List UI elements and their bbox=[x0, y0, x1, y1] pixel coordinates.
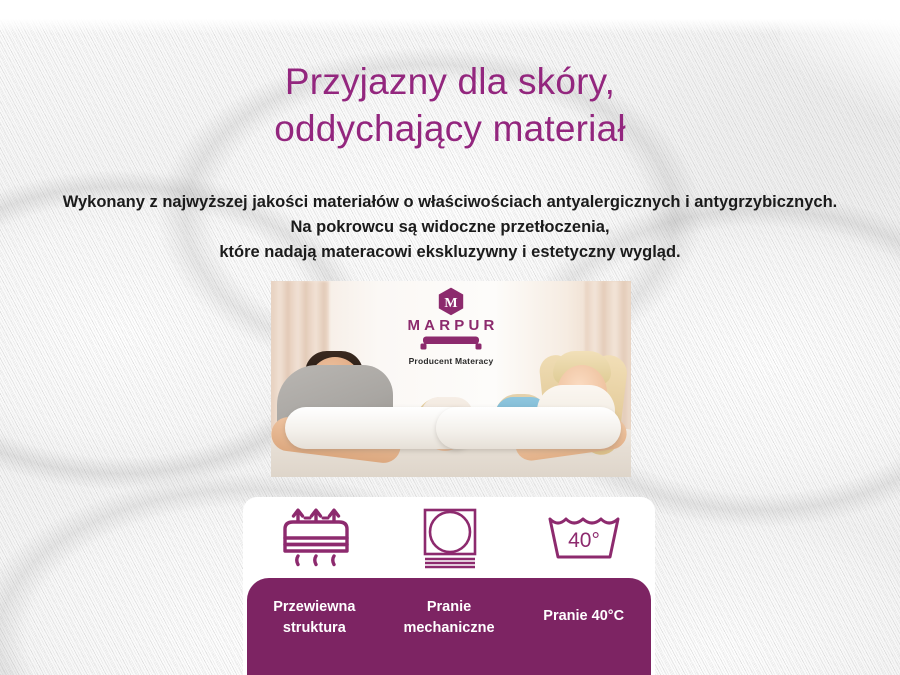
feature-icon-cell-wash-40: 40° bbox=[517, 497, 655, 578]
feature-icon-cell-breathable bbox=[243, 497, 383, 578]
breathable-mattress-icon bbox=[277, 507, 355, 569]
svg-text:M: M bbox=[444, 296, 457, 311]
headline-line-2: oddychający materiał bbox=[0, 105, 900, 152]
feature-label-machine-wash-line2: mechaniczne bbox=[382, 618, 517, 639]
feature-label-breathable-line2: struktura bbox=[247, 618, 382, 639]
wash-temperature-label: 40° bbox=[568, 529, 600, 552]
page-content: Przyjazny dla skóry, oddychający materia… bbox=[0, 0, 900, 675]
feature-labels-banner: Przewiewna struktura Pranie mechaniczne … bbox=[247, 578, 651, 675]
description-line-2: Na pokrowcu są widoczne przetłoczenia, bbox=[0, 215, 900, 240]
feature-label-machine-wash: Pranie mechaniczne bbox=[382, 597, 517, 657]
feature-label-breathable: Przewiewna struktura bbox=[247, 597, 382, 657]
pillow-right bbox=[436, 407, 621, 449]
description-line-3: które nadają materacowi ekskluzywny i es… bbox=[0, 240, 900, 265]
logo-wordmark: MARPUR bbox=[376, 317, 526, 334]
feature-icons-row: 40° bbox=[243, 497, 655, 578]
bed-icon bbox=[420, 335, 482, 350]
page-title: Przyjazny dla skóry, oddychający materia… bbox=[0, 58, 900, 152]
description-text: Wykonany z najwyższej jakości materiałów… bbox=[0, 190, 900, 265]
logo-tagline: Producent Materacy bbox=[376, 356, 526, 366]
feature-panel: 40° Przewiewna struktura Pranie mechanic… bbox=[243, 497, 655, 675]
promo-page: Przyjazny dla skóry, oddychający materia… bbox=[0, 0, 900, 675]
feature-label-wash-40: Pranie 40°C bbox=[516, 606, 651, 647]
feature-label-wash-40-line1: Pranie 40°C bbox=[516, 606, 651, 627]
headline-line-1: Przyjazny dla skóry, bbox=[0, 58, 900, 105]
feature-icon-cell-machine-wash bbox=[383, 497, 517, 578]
description-line-1: Wykonany z najwyższej jakości materiałów… bbox=[0, 190, 900, 215]
machine-wash-icon bbox=[421, 507, 479, 569]
wash-40-degrees-icon: 40° bbox=[547, 515, 621, 561]
marpur-logo: M MARPUR Producent Materacy bbox=[376, 287, 526, 366]
family-on-mattress-photo: M MARPUR Producent Materacy bbox=[271, 281, 631, 477]
feature-label-breathable-line1: Przewiewna bbox=[247, 597, 382, 618]
hexagon-monogram-icon: M bbox=[438, 287, 464, 316]
feature-label-machine-wash-line1: Pranie bbox=[382, 597, 517, 618]
